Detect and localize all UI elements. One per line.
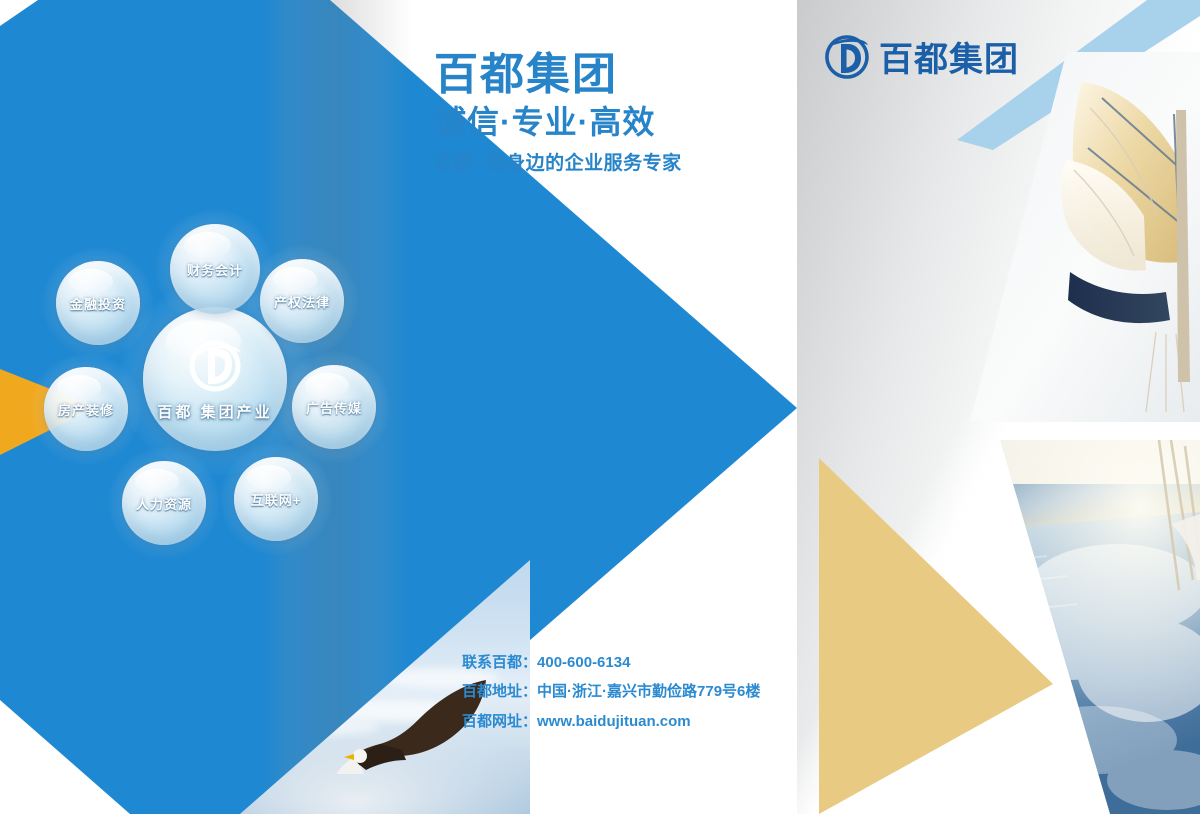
right-panel: 百都集团 (797, 0, 1200, 814)
baidu-d-logo-icon (825, 35, 869, 79)
company-slogan: 诚信·专业·高效 (434, 104, 784, 141)
bubble-label: 产权法律 (274, 292, 330, 311)
left-panel: 百都 集团产业 财务会计 产权法律 广告传媒 互联网+ 人力资源 房产装修 (0, 0, 797, 814)
company-tagline: 百都--您身边的企业服务专家 (434, 153, 784, 176)
contact-phone-row: 联系百都：400-600-6134 (462, 648, 797, 677)
bubble-label: 金融投资 (70, 294, 126, 313)
bubble-center-group-industries[interactable]: 百都 集团产业 (143, 307, 287, 451)
contact-address-value: 中国·浙江·嘉兴市勤俭路779号6楼 (537, 683, 760, 700)
bubble-label: 互联网+ (251, 490, 302, 509)
bubble-internet-plus[interactable]: 互联网+ (234, 457, 318, 541)
contact-website-value[interactable]: www.baidujituan.com (537, 713, 691, 730)
contact-website-label: 百都网址： (462, 713, 537, 730)
industry-bubble-diagram: 百都 集团产业 财务会计 产权法律 广告传媒 互联网+ 人力资源 房产装修 (30, 215, 400, 545)
ocean-photo (867, 440, 1200, 814)
sailboat-photo (970, 52, 1200, 422)
contact-website-row: 百都网址：www.baidujituan.com (462, 707, 797, 736)
bubble-label: 人力资源 (136, 494, 192, 513)
brand-wordmark: 百都集团 (879, 32, 1019, 81)
bubble-label: 房产装修 (58, 400, 114, 419)
headline-block: 百都集团 诚信·专业·高效 百都--您身边的企业服务专家 (434, 52, 784, 176)
contact-address-row: 百都地址：中国·浙江·嘉兴市勤俭路779号6楼 (462, 677, 797, 706)
contact-phone-label: 联系百都： (462, 654, 537, 671)
bubble-finance-investment[interactable]: 金融投资 (56, 261, 140, 345)
bubble-label: 财务会计 (187, 260, 243, 279)
bubble-property-law[interactable]: 产权法律 (260, 259, 344, 343)
baidu-d-logo-icon (184, 337, 246, 395)
bubble-finance-accounting[interactable]: 财务会计 (170, 224, 260, 314)
bubble-label: 广告传媒 (306, 398, 362, 417)
contact-address-label: 百都地址： (462, 683, 537, 700)
bubble-center-label: 百都 集团产业 (157, 401, 272, 422)
bubble-real-estate-decoration[interactable]: 房产装修 (44, 367, 128, 451)
bubble-human-resources[interactable]: 人力资源 (122, 461, 206, 545)
bubble-advertising-media[interactable]: 广告传媒 (292, 365, 376, 449)
contact-block: 联系百都：400-600-6134 百都地址：中国·浙江·嘉兴市勤俭路779号6… (462, 648, 797, 736)
contact-phone-value: 400-600-6134 (537, 654, 630, 671)
brochure-page: 百都 集团产业 财务会计 产权法律 广告传媒 互联网+ 人力资源 房产装修 (0, 0, 1200, 814)
company-title: 百都集团 (434, 52, 784, 98)
brand-logo-lockup[interactable]: 百都集团 (825, 32, 1019, 81)
